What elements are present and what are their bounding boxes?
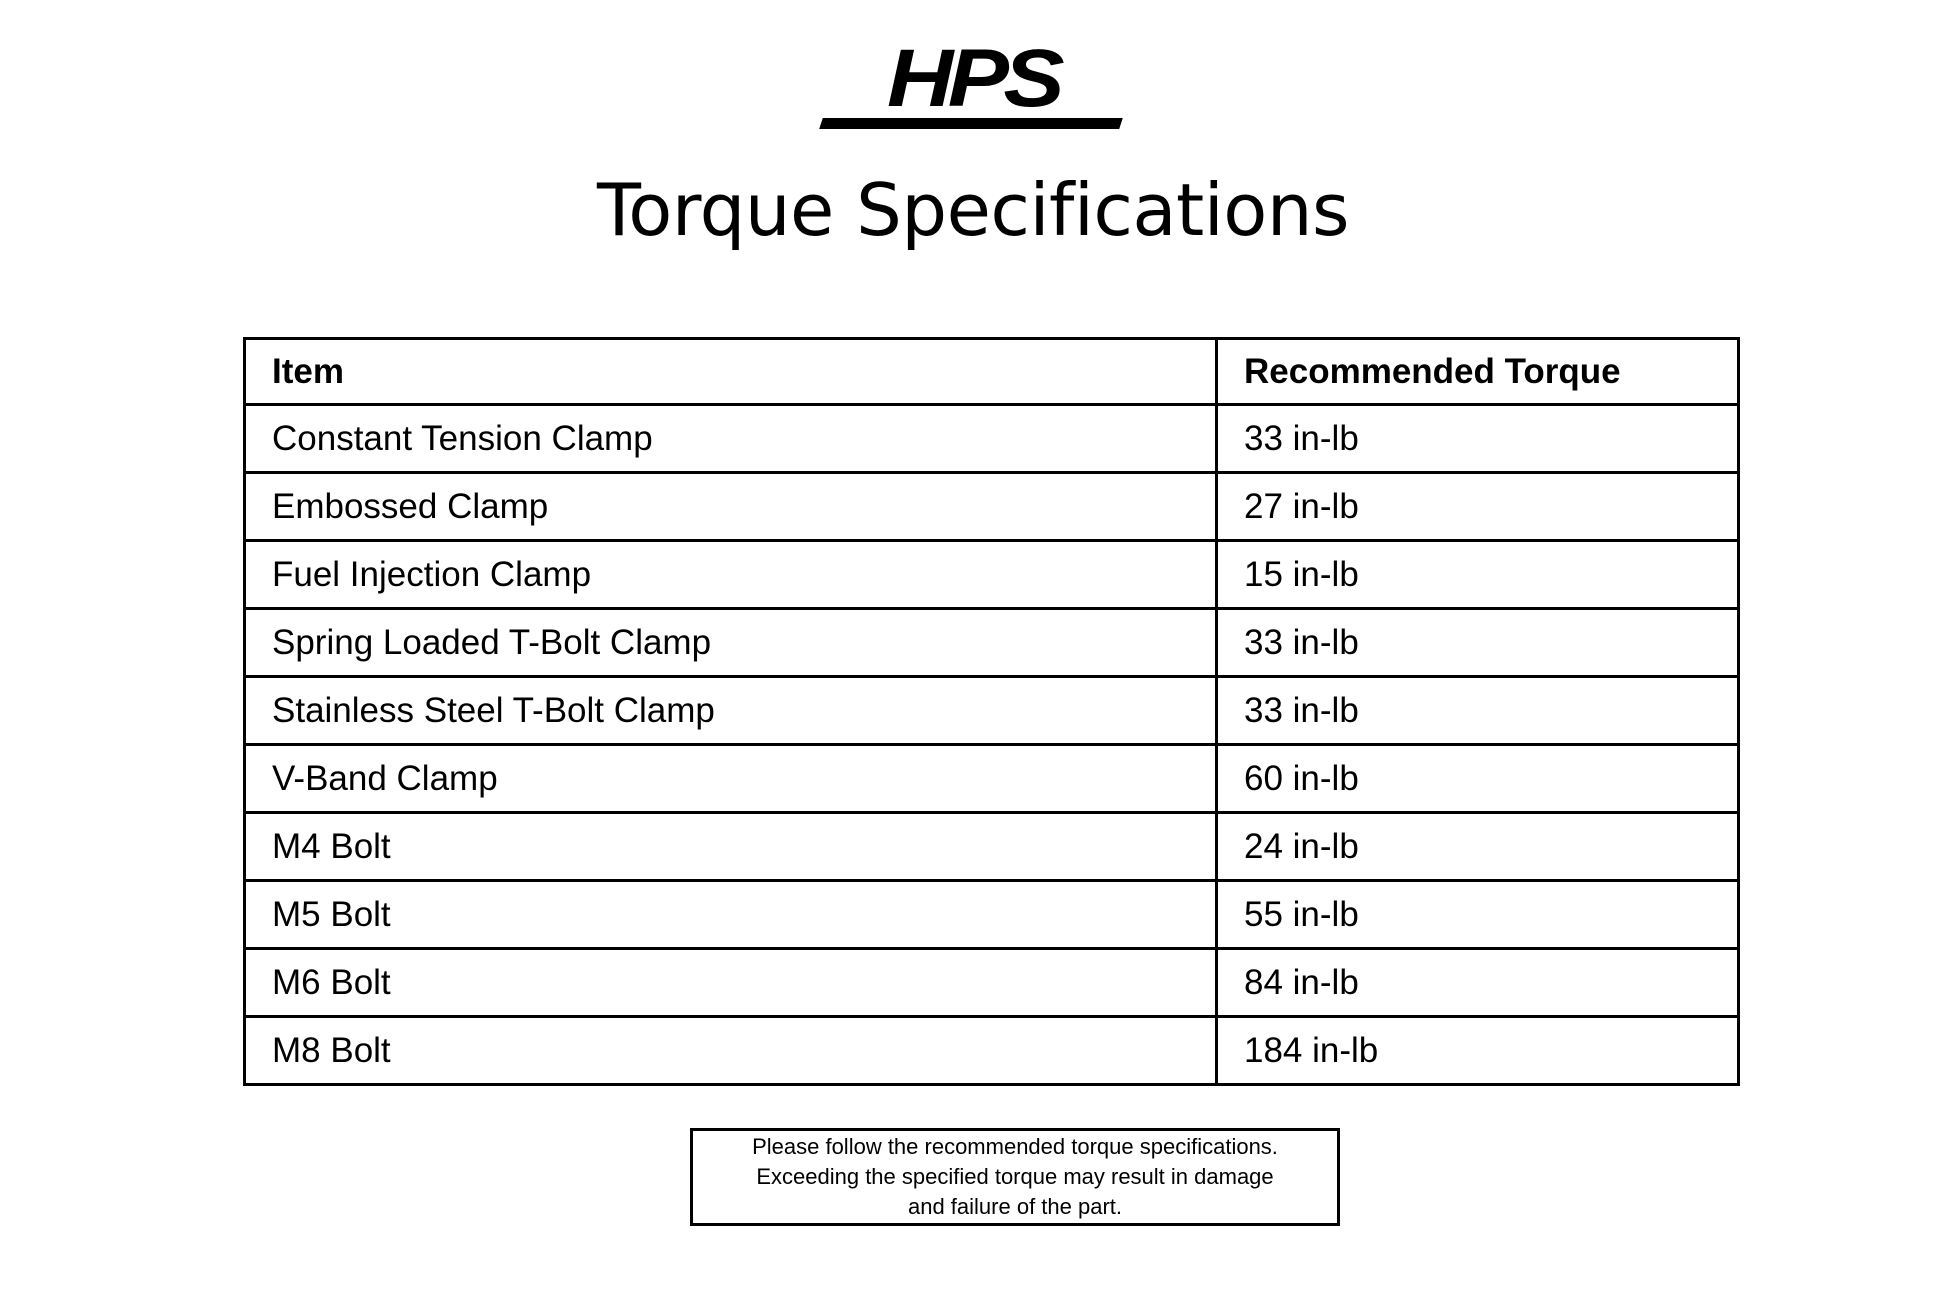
warning-note-line-3: and failure of the part. (752, 1192, 1278, 1222)
cell-torque: 33 in-lb (1217, 677, 1739, 745)
cell-torque: 84 in-lb (1217, 949, 1739, 1017)
table-row: M6 Bolt 84 in-lb (245, 949, 1739, 1017)
cell-torque: 15 in-lb (1217, 541, 1739, 609)
torque-specifications-table: Item Recommended Torque Constant Tension… (243, 337, 1740, 1086)
table-row: V-Band Clamp 60 in-lb (245, 745, 1739, 813)
table-row: M8 Bolt 184 in-lb (245, 1017, 1739, 1085)
cell-item: M6 Bolt (245, 949, 1217, 1017)
cell-item: M8 Bolt (245, 1017, 1217, 1085)
table-header-row: Item Recommended Torque (245, 339, 1739, 405)
table-row: Spring Loaded T-Bolt Clamp 33 in-lb (245, 609, 1739, 677)
page-title: Torque Specifications (0, 168, 1946, 252)
cell-torque: 33 in-lb (1217, 609, 1739, 677)
hps-wordmark-icon: HPS (794, 38, 1152, 120)
warning-note-text: Please follow the recommended torque spe… (752, 1132, 1278, 1222)
column-header-recommended-torque: Recommended Torque (1217, 339, 1739, 405)
table-row: Stainless Steel T-Bolt Clamp 33 in-lb (245, 677, 1739, 745)
table-row: M4 Bolt 24 in-lb (245, 813, 1739, 881)
table-head: Item Recommended Torque (245, 339, 1739, 405)
cell-item: Embossed Clamp (245, 473, 1217, 541)
cell-item: V-Band Clamp (245, 745, 1217, 813)
cell-torque: 24 in-lb (1217, 813, 1739, 881)
cell-item: M5 Bolt (245, 881, 1217, 949)
cell-item: Constant Tension Clamp (245, 405, 1217, 473)
hps-logo-underline-bar (819, 118, 1123, 129)
hps-logo-inner: HPS (813, 38, 1133, 138)
cell-torque: 27 in-lb (1217, 473, 1739, 541)
hps-logo: HPS (0, 38, 1946, 138)
torque-specifications-page: HPS Torque Specifications Item Recommend… (0, 0, 1946, 1297)
warning-note-box: Please follow the recommended torque spe… (690, 1128, 1340, 1226)
cell-torque: 184 in-lb (1217, 1017, 1739, 1085)
table-row: Embossed Clamp 27 in-lb (245, 473, 1739, 541)
cell-item: Stainless Steel T-Bolt Clamp (245, 677, 1217, 745)
cell-item: M4 Bolt (245, 813, 1217, 881)
cell-torque: 60 in-lb (1217, 745, 1739, 813)
cell-item: Fuel Injection Clamp (245, 541, 1217, 609)
warning-note-line-1: Please follow the recommended torque spe… (752, 1132, 1278, 1162)
table-row: Constant Tension Clamp 33 in-lb (245, 405, 1739, 473)
table-body: Constant Tension Clamp 33 in-lb Embossed… (245, 405, 1739, 1085)
cell-item: Spring Loaded T-Bolt Clamp (245, 609, 1217, 677)
table-row: M5 Bolt 55 in-lb (245, 881, 1739, 949)
cell-torque: 55 in-lb (1217, 881, 1739, 949)
warning-note-line-2: Exceeding the specified torque may resul… (752, 1162, 1278, 1192)
cell-torque: 33 in-lb (1217, 405, 1739, 473)
table-row: Fuel Injection Clamp 15 in-lb (245, 541, 1739, 609)
column-header-item: Item (245, 339, 1217, 405)
